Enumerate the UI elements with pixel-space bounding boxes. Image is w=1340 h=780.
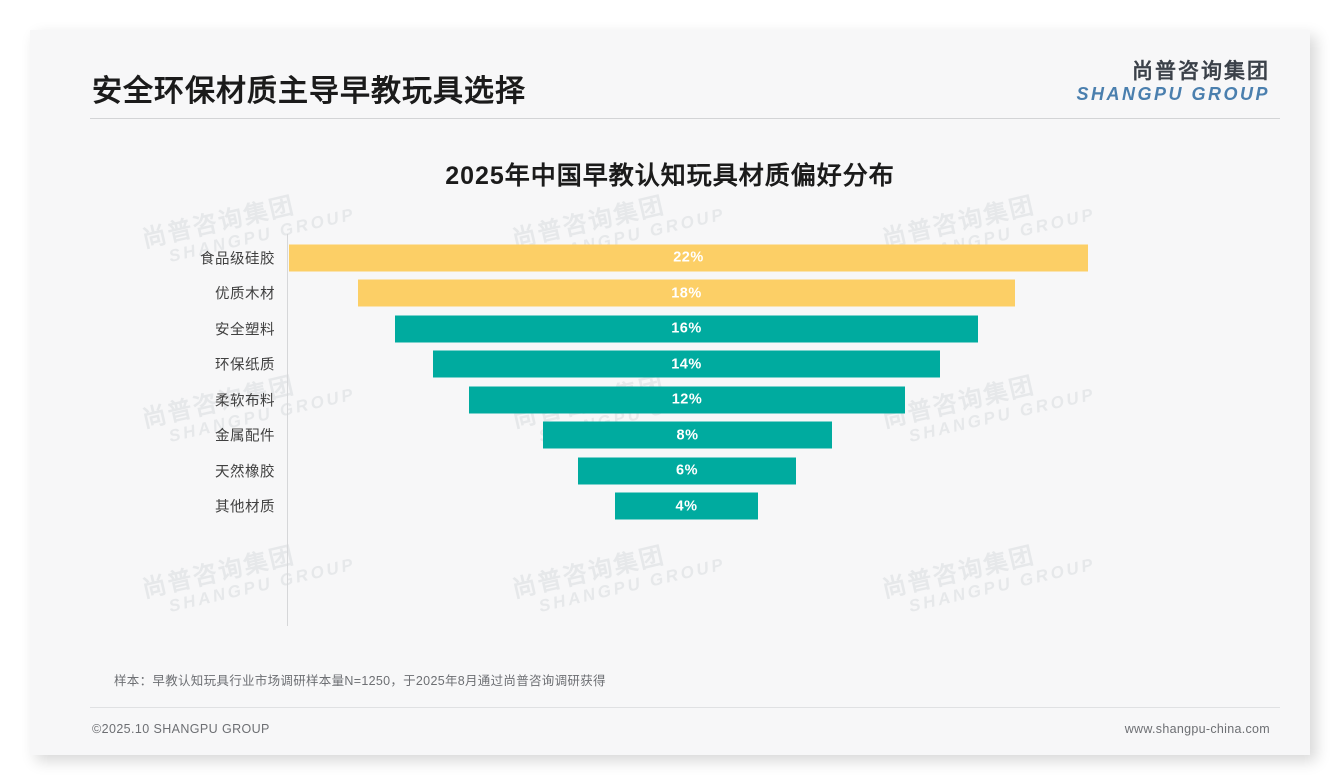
funnel-bar[interactable]: 6% <box>578 457 796 484</box>
chart-row: 安全塑料 16% <box>30 311 1310 347</box>
funnel-bar[interactable]: 4% <box>615 493 758 520</box>
chart-row: 天然橡胶 6% <box>30 453 1310 489</box>
category-label: 优质木材 <box>30 283 275 304</box>
footer-copyright: ©2025.10 SHANGPU GROUP <box>92 722 270 736</box>
logo-text-cn: 尚普咨询集团 <box>1076 60 1270 84</box>
logo-text-en: SHANGPU GROUP <box>1076 84 1270 105</box>
funnel-bar[interactable]: 22% <box>289 244 1088 271</box>
bar-value-label: 16% <box>671 321 702 337</box>
bar-value-label: 22% <box>673 250 704 266</box>
page-title: 安全环保材质主导早教玩具选择 <box>92 66 526 110</box>
slide-footer: ©2025.10 SHANGPU GROUP www.shangpu-china… <box>30 707 1310 755</box>
chart-row: 优质木材 18% <box>30 276 1310 312</box>
bar-value-label: 12% <box>672 392 703 408</box>
header-divider <box>90 118 1280 119</box>
bar-value-label: 8% <box>677 427 699 443</box>
funnel-bar[interactable]: 18% <box>358 280 1015 307</box>
category-label: 食品级硅胶 <box>30 247 275 268</box>
bar-value-label: 18% <box>671 285 702 301</box>
category-label: 其他材质 <box>30 496 275 517</box>
chart-row: 柔软布料 12% <box>30 382 1310 418</box>
chart-row: 食品级硅胶 22% <box>30 240 1310 276</box>
bar-value-label: 6% <box>676 463 698 479</box>
source-footnote: 样本：早教认知玩具行业市场调研样本量N=1250，于2025年8月通过尚普咨询调… <box>90 670 1270 689</box>
category-label: 环保纸质 <box>30 354 275 375</box>
slide-canvas: 尚普咨询集团 SHANGPU GROUP 尚普咨询集团 SHANGPU GROU… <box>30 30 1310 755</box>
category-label: 柔软布料 <box>30 389 275 410</box>
category-label: 天然橡胶 <box>30 460 275 481</box>
funnel-bar[interactable]: 16% <box>395 315 978 342</box>
chart-row: 其他材质 4% <box>30 489 1310 525</box>
funnel-bar[interactable]: 8% <box>543 422 832 449</box>
bar-value-label: 14% <box>671 356 702 372</box>
footer-divider <box>90 707 1280 708</box>
footer-website[interactable]: www.shangpu-china.com <box>1125 722 1270 736</box>
slide-header: 安全环保材质主导早教玩具选择 尚普咨询集团 SHANGPU GROUP <box>30 30 1310 130</box>
funnel-bar[interactable]: 14% <box>433 351 940 378</box>
category-label: 安全塑料 <box>30 318 275 339</box>
category-label: 金属配件 <box>30 425 275 446</box>
funnel-bar[interactable]: 12% <box>469 386 905 413</box>
chart-area: 2025年中国早教认知玩具材质偏好分布 食品级硅胶 22% 优质木材 18% 安… <box>30 130 1310 655</box>
chart-title: 2025年中国早教认知玩具材质偏好分布 <box>30 156 1310 192</box>
chart-row: 环保纸质 14% <box>30 347 1310 383</box>
funnel-plot: 食品级硅胶 22% 优质木材 18% 安全塑料 16% 环保纸质 <box>30 240 1310 630</box>
chart-row: 金属配件 8% <box>30 418 1310 454</box>
brand-logo: 尚普咨询集团 SHANGPU GROUP <box>1076 60 1270 105</box>
bar-value-label: 4% <box>676 498 698 514</box>
